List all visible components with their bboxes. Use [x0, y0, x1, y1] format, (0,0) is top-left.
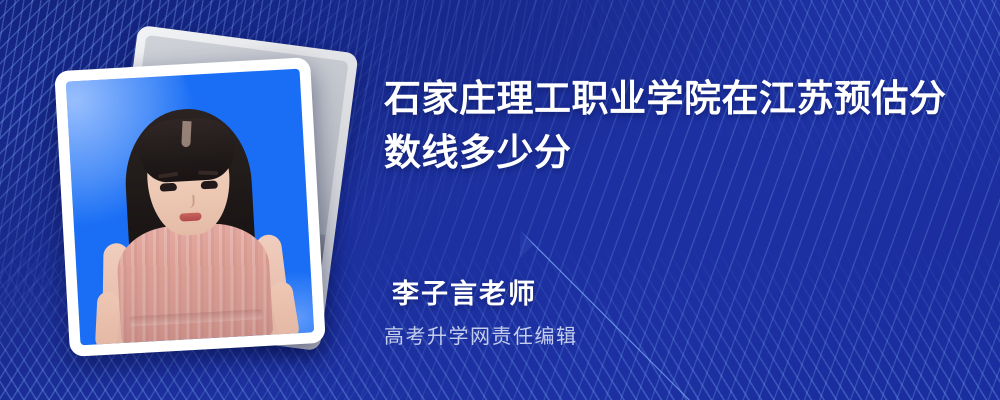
eyebrow-right [198, 171, 218, 176]
dress-torso [115, 221, 273, 346]
author-role: 高考升学网责任编辑 [384, 320, 578, 349]
photo-card-front [54, 57, 326, 357]
text-column: 石家庄理工职业学院在江苏预估分数线多少分 李子言老师 高考升学网责任编辑 [384, 0, 984, 400]
portrait-photo [66, 69, 314, 346]
eye-right [201, 180, 218, 189]
arm-left [95, 291, 120, 345]
portrait-figure [66, 69, 314, 346]
eye-left [160, 183, 177, 192]
photo-card-stack [44, 28, 364, 376]
author-name: 李子言老师 [392, 272, 537, 311]
lips [179, 212, 201, 221]
page-title: 石家庄理工职业学院在江苏预估分数线多少分 [384, 72, 972, 180]
hair-parting [181, 121, 191, 147]
article-cover-banner: 石家庄理工职业学院在江苏预估分数线多少分 李子言老师 高考升学网责任编辑 [0, 0, 1000, 400]
